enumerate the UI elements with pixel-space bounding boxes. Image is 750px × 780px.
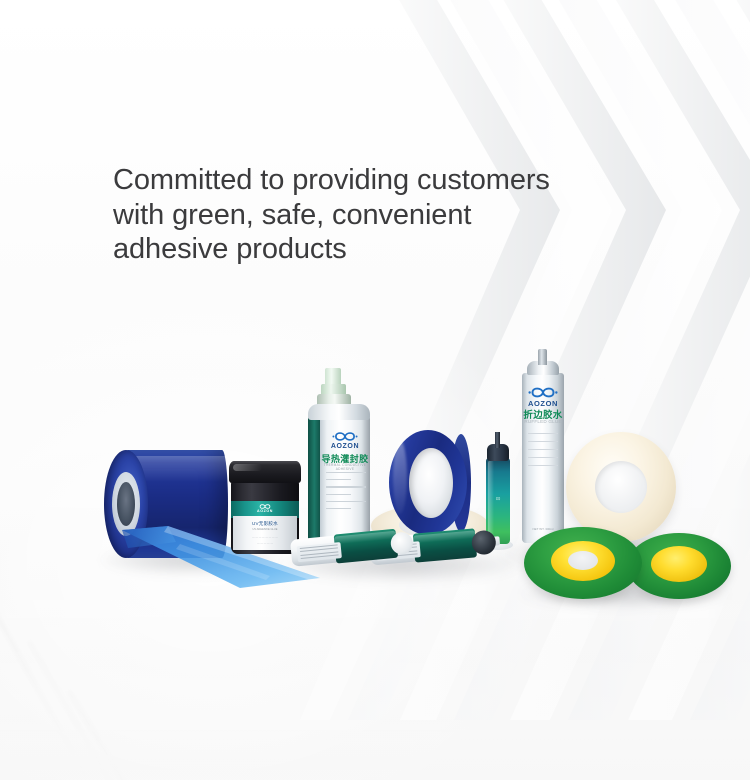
silicone-spec-lines: [528, 433, 558, 473]
silicone-label-en: RUFFLED GLUE: [522, 419, 564, 424]
cartridge-spec-lines: [326, 472, 366, 515]
aozon-logo-silicone: AOZON: [524, 385, 562, 408]
product-thermal-potting-adhesive-cartridge: AOZON 导热灌封胶 THERMAL CONDUCTIVE ADHESIVE: [301, 368, 377, 550]
product-group: AOZON UV无影胶水 UV ADHESIVE GLUE — — — — — …: [0, 0, 750, 780]
aozon-infinity-icon: [528, 385, 558, 400]
aozon-logo-jar: AOZON: [231, 503, 299, 514]
jar-label-en: UV ADHESIVE GLUE: [233, 528, 297, 531]
silicone-nozzle: [538, 349, 547, 365]
tube-green-section: [413, 528, 477, 562]
cream-masking-tape-core: [595, 461, 647, 513]
product-cream-masking-tape-roll: [566, 432, 676, 542]
banner-stage: Committed to providing customers with gr…: [0, 0, 750, 780]
product-blue-pet-tape-roll: [389, 430, 471, 538]
tube-green-section: [334, 529, 398, 564]
aozon-infinity-icon: [332, 430, 358, 443]
jar-label-cn: UV无影胶水: [233, 521, 297, 527]
product-ruffled-glue-cartridge: AOZON 折边胶水 RUFFLED GLUE NET WT. 300ml: [519, 349, 569, 549]
blue-tape-gloss: [393, 440, 407, 514]
film-core-hole: [117, 482, 135, 526]
cartridge-label-en: THERMAL CONDUCTIVE ADHESIVE: [320, 463, 370, 471]
product-green-tape-roll-2: [627, 533, 731, 599]
spray-logo: ∞: [488, 494, 507, 503]
cartridge-shoulder: [308, 404, 370, 420]
jar-lid: [229, 461, 301, 483]
spray-nozzle: [495, 432, 500, 448]
aozon-wordmark: AOZON: [231, 510, 299, 514]
green-tape-hole-1: [568, 551, 598, 570]
jar-label: UV无影胶水 UV ADHESIVE GLUE — — — — — — — — …: [233, 516, 297, 550]
aozon-wordmark: AOZON: [323, 443, 367, 450]
aozon-logo-cartridge: AOZON: [323, 430, 367, 450]
blue-tape-core: [409, 448, 453, 518]
green-tape-core-2: [651, 546, 707, 582]
product-green-tape-roll-1: [524, 527, 642, 599]
